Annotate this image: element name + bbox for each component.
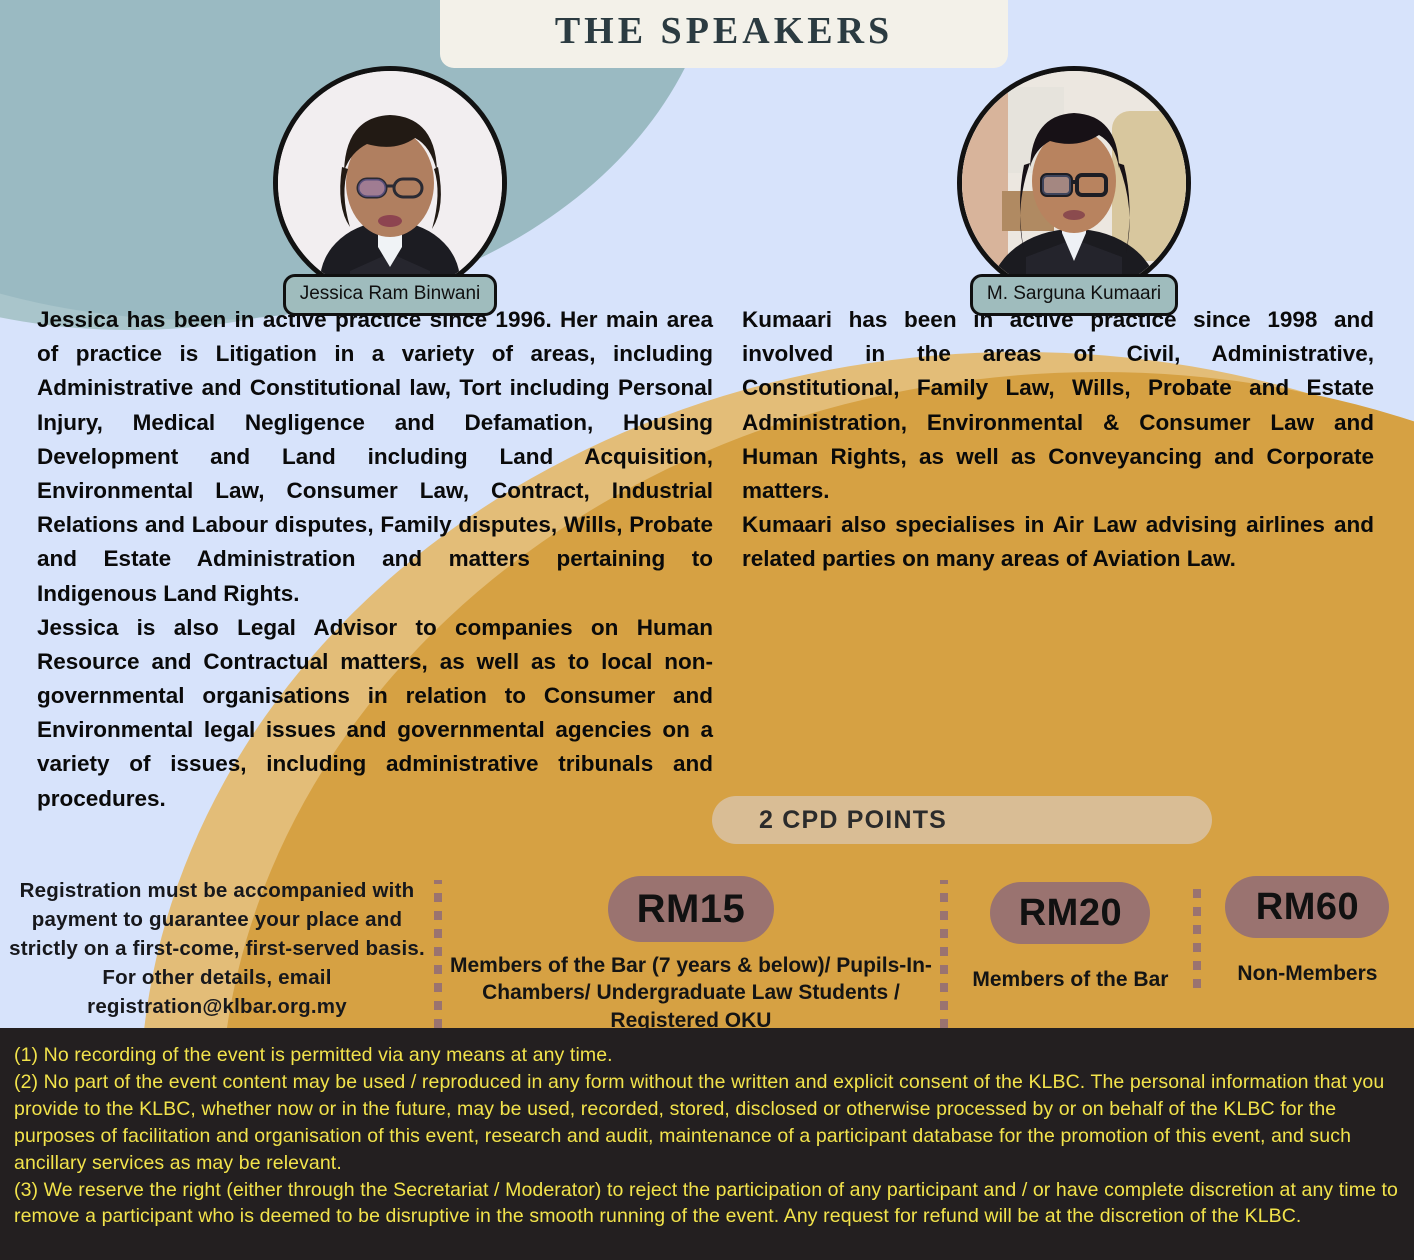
- terms-item: (3) We reserve the right (either through…: [14, 1177, 1400, 1231]
- bio-paragraph: Kumaari also specialises in Air Law advi…: [742, 508, 1374, 576]
- terms-item: (2) No part of the event content may be …: [14, 1069, 1400, 1177]
- speaker-card-kumaari: M. Sarguna Kumaari: [956, 66, 1192, 316]
- speaker-photo-kumaari: [957, 66, 1191, 300]
- tier-divider: [940, 880, 948, 1032]
- bio-paragraph: Kumaari has been in active practice sinc…: [742, 303, 1374, 508]
- page-title: THE SPEAKERS: [555, 0, 893, 53]
- speaker-name-jessica: Jessica Ram Binwani: [283, 274, 498, 316]
- price-pill: RM15: [608, 876, 774, 942]
- speaker-card-jessica: Jessica Ram Binwani: [272, 66, 508, 316]
- speaker-name-kumaari: M. Sarguna Kumaari: [970, 274, 1178, 316]
- cpd-points-badge: 2 CPD POINTS: [712, 796, 1212, 844]
- pricing-tier-rm20: RM20 Members of the Bar: [948, 872, 1193, 993]
- pricing-tier-rm15: RM15 Members of the Bar (7 years & below…: [442, 872, 940, 1034]
- price-tier-label: Members of the Bar: [972, 966, 1168, 993]
- tier-divider: [1193, 880, 1201, 988]
- speakers-poster: THE SPEAKERS Jessica Ram Binwani: [0, 0, 1414, 1260]
- speaker-bio-kumaari: Kumaari has been in active practice sinc…: [742, 303, 1374, 577]
- speaker-bio-jessica: Jessica has been in active practice sinc…: [37, 303, 713, 816]
- registration-note: Registration must be accompanied with pa…: [0, 876, 434, 1022]
- terms-and-conditions-footer: (1) No recording of the event is permitt…: [0, 1028, 1414, 1260]
- price-pill: RM60: [1225, 876, 1389, 938]
- bio-paragraph: Jessica is also Legal Advisor to compani…: [37, 611, 713, 816]
- tier-divider: [434, 880, 442, 1032]
- price-pill: RM20: [990, 882, 1150, 944]
- terms-item: (1) No recording of the event is permitt…: [14, 1042, 1400, 1069]
- price-tier-label: Members of the Bar (7 years & below)/ Pu…: [446, 952, 936, 1034]
- header-title-plate: THE SPEAKERS: [440, 0, 1008, 68]
- pricing-tier-list: RM15 Members of the Bar (7 years & below…: [434, 872, 1414, 1032]
- speaker-photo-jessica: [273, 66, 507, 300]
- price-tier-label: Non-Members: [1237, 960, 1377, 987]
- cpd-points-label: 2 CPD POINTS: [759, 806, 947, 835]
- pricing-tier-rm60: RM60 Non-Members: [1201, 872, 1414, 987]
- bio-paragraph: Jessica has been in active practice sinc…: [37, 303, 713, 611]
